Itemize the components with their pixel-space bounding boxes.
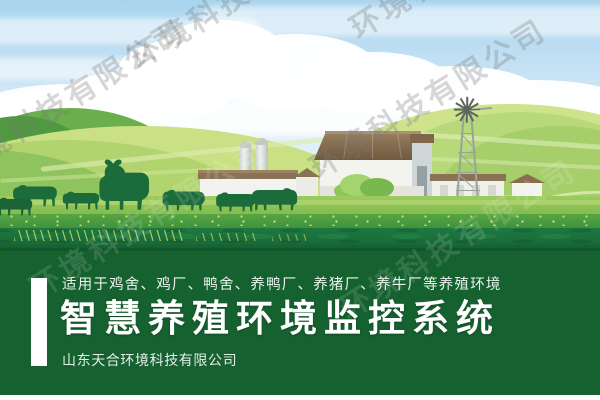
cow-silhouette	[0, 196, 34, 216]
farmhouse-right-roof	[509, 174, 545, 183]
grass-blades	[272, 234, 306, 241]
cow-silhouette-large	[95, 158, 157, 212]
outbuilding-roof-shade	[198, 170, 298, 173]
cow-silhouette	[160, 185, 208, 211]
banner-top-edge	[0, 248, 600, 251]
windmill-cross-brace	[459, 152, 476, 153]
farm-landscape-illustration	[0, 0, 600, 248]
cow-silhouette	[248, 183, 300, 211]
main-barn-roof-ridge	[325, 131, 421, 134]
farmhouse-near-windmill	[440, 176, 442, 178]
poster-root: 适用于鸡舍、鸡厂、鸭舍、养鸭厂、养猪厂、养牛厂等养殖环境 智慧养殖环境监控系统 …	[0, 0, 600, 400]
barn-tower-roof	[410, 134, 434, 143]
windmill-cross-brace	[461, 133, 474, 134]
farmhouse-right	[512, 182, 542, 196]
grass-blades	[14, 230, 184, 241]
bottom-white-strip	[0, 395, 600, 400]
barn-roof-seam	[372, 133, 373, 159]
silo-cap	[256, 138, 268, 145]
accent-bar	[31, 278, 47, 366]
banner: 适用于鸡舍、鸡厂、鸭舍、养鸭厂、养猪厂、养牛厂等养殖环境 智慧养殖环境监控系统 …	[0, 248, 600, 395]
banner-subtitle: 适用于鸡舍、鸡厂、鸭舍、养鸭厂、养猪厂、养牛厂等养殖环境	[62, 278, 502, 293]
page-title: 智慧养殖环境监控系统	[60, 300, 500, 337]
silo-cap	[240, 141, 251, 148]
shrub	[360, 178, 394, 198]
grass-blades	[196, 233, 256, 241]
windmill-cross-brace	[456, 190, 480, 191]
shed-door	[440, 185, 448, 196]
company-name: 山东天合环境科技有限公司	[62, 354, 237, 368]
windmill-cross-brace	[457, 172, 478, 173]
pasture-speckles	[0, 212, 600, 226]
annex-roof	[294, 168, 320, 177]
